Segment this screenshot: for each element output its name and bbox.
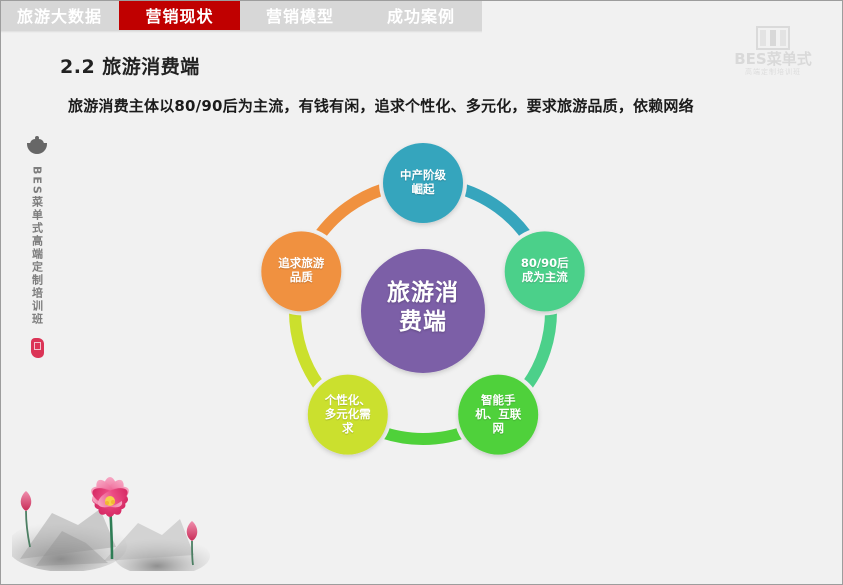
nav-tab-label: 旅游大数据 (17, 3, 102, 27)
cycle-node-circle[interactable] (505, 231, 585, 311)
teapot-icon (24, 136, 50, 156)
cycle-arc (295, 302, 325, 393)
sidebar-vertical-text: BES菜单式高端定制培训班 (32, 166, 43, 326)
page-subtitle: 旅游消费主体以80/90后为主流，有钱有闲，追求个性化、多元化，要求旅游品质，依… (68, 95, 694, 116)
sidebar: BES菜单式高端定制培训班 (18, 136, 56, 366)
cycle-arc (521, 302, 551, 393)
nav-bar: 旅游大数据 营销现状 营销模型 成功案例 (0, 0, 482, 30)
building-icon (756, 26, 790, 50)
cycle-diagram: 旅游消 费端 中产阶级 崛起80/90后 成为主流智能手 机、互联 网个性化、 … (228, 136, 618, 486)
brand-logo: BES菜单式 高端定制培训班 (713, 26, 833, 78)
cycle-arc (454, 187, 532, 243)
center-circle[interactable] (361, 249, 485, 373)
nav-tab-label: 营销模型 (266, 3, 334, 27)
nav-tab-marketing-status[interactable]: 营销现状 (119, 0, 240, 30)
cycle-node-circle[interactable] (383, 143, 463, 223)
nav-tab-marketing-model[interactable]: 营销模型 (240, 0, 360, 30)
cycle-arc (375, 430, 471, 439)
logo-subtext: 高端定制培训班 (745, 68, 801, 76)
nav-tab-success-cases[interactable]: 成功案例 (360, 0, 482, 30)
nav-tab-label: 营销现状 (145, 3, 213, 27)
cycle-node-circle[interactable] (308, 375, 388, 455)
seal-icon (31, 338, 44, 358)
nav-tab-tourism-bigdata[interactable]: 旅游大数据 (0, 0, 119, 30)
cycle-diagram-svg (228, 136, 618, 486)
lotus-flower-illustration (12, 451, 227, 571)
page-title: 2.2 旅游消费端 (60, 52, 200, 79)
logo-text: BES菜单式 (734, 52, 811, 68)
cycle-node-circle[interactable] (261, 231, 341, 311)
nav-bar-shadow (0, 30, 482, 33)
nav-tab-label: 成功案例 (387, 3, 455, 27)
slide-canvas: 旅游大数据 营销现状 营销模型 成功案例 BES菜单式 高端定制培训班 2.2 … (0, 0, 843, 585)
cycle-arc (314, 187, 392, 243)
cycle-node-circle[interactable] (458, 375, 538, 455)
